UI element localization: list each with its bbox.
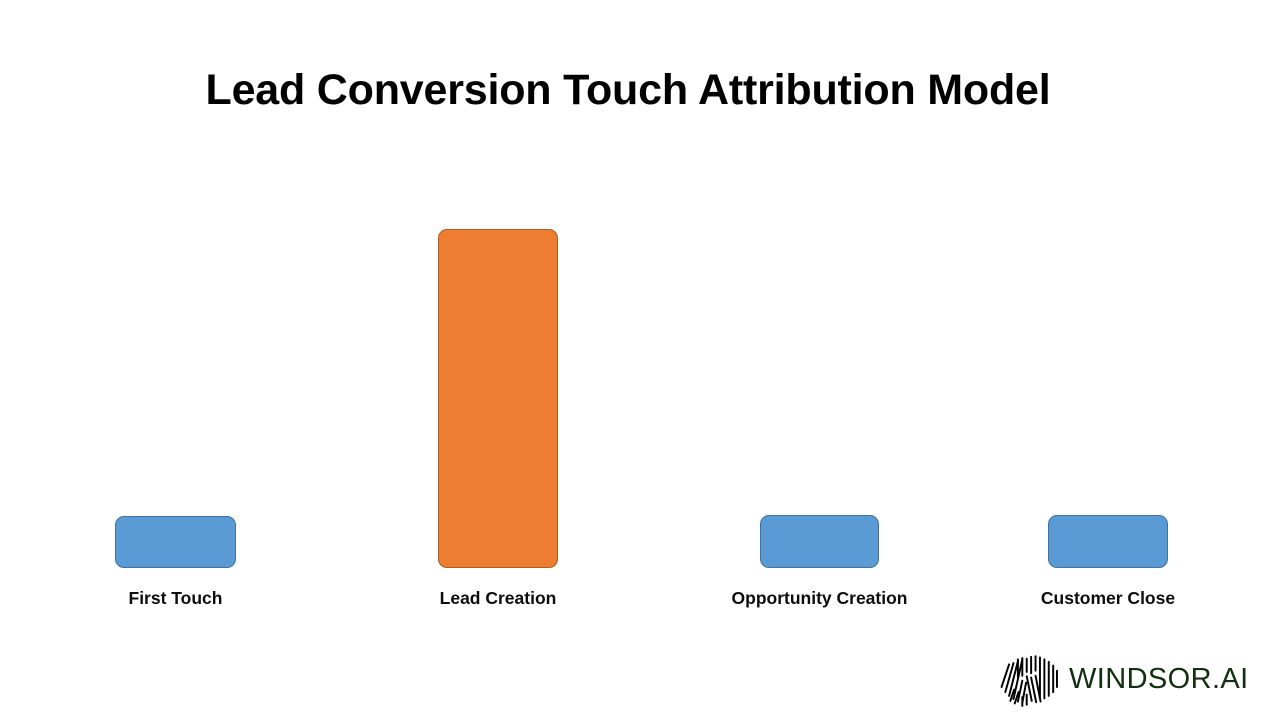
bar-customer-close[interactable] — [1048, 515, 1168, 568]
bar-group-lead-creation: Lead Creation — [438, 150, 558, 620]
bar-group-opportunity-creation: Opportunity Creation — [760, 150, 879, 620]
page-title: Lead Conversion Touch Attribution Model — [0, 66, 1256, 115]
windsor-ai-logo: WINDSOR.AI — [999, 647, 1224, 711]
chart-plot-area: First Touch Lead Creation Opportunity Cr… — [0, 150, 1280, 620]
bar-label-lead-creation: Lead Creation — [348, 588, 648, 609]
bar-group-customer-close: Customer Close — [1048, 150, 1168, 620]
bar-lead-creation[interactable] — [438, 229, 558, 568]
bar-first-touch[interactable] — [115, 516, 236, 568]
logo-wordmark: WINDSOR.AI — [1069, 665, 1249, 694]
bar-label-opportunity-creation: Opportunity Creation — [670, 588, 969, 609]
bar-label-first-touch: First Touch — [25, 588, 326, 609]
bar-opportunity-creation[interactable] — [760, 515, 879, 568]
windsor-fingerprint-mark-icon — [999, 648, 1062, 711]
slide-canvas: Lead Conversion Touch Attribution Model … — [0, 0, 1280, 720]
bar-group-first-touch: First Touch — [115, 150, 236, 620]
bar-label-customer-close: Customer Close — [958, 588, 1258, 609]
